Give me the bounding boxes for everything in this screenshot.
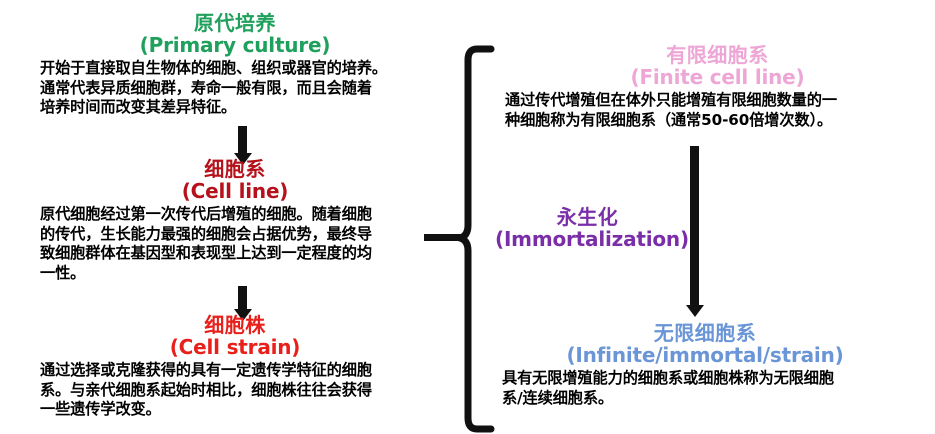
cell-line-body-line4: 一性。 — [40, 264, 430, 284]
primary-culture-body-line1: 开始于直接取自生物体的细胞、组织或器官的培养。 — [40, 59, 430, 79]
cell-line-heading: 细胞系 (Cell line) — [40, 158, 430, 203]
infinite-cell-line-heading-en: (Infinite/immortal/strain) — [480, 344, 930, 366]
cell-strain-heading-en: (Cell strain) — [40, 336, 430, 358]
arrow-finite-to-infinite-icon — [690, 146, 699, 306]
cell-strain-body-line1: 通过选择或克隆获得的具有一定遗传学特征的细胞 — [40, 361, 430, 381]
node-finite-cell-line: 有限细胞系 (Finite cell line) 通过传代增殖但在体外只能增殖有… — [505, 44, 930, 130]
node-cell-strain: 细胞株 (Cell strain) 通过选择或克隆获得的具有一定遗传学特征的细胞… — [40, 314, 430, 420]
infinite-cell-line-body: 具有无限增殖能力的细胞系或细胞株称为无限细胞 系/连续细胞系。 — [480, 369, 930, 409]
immortalization-heading: 永生化 (Immortalization) — [495, 206, 680, 251]
primary-culture-heading-cn: 原代培养 — [40, 12, 430, 34]
primary-culture-body-line2: 通常代表异质细胞群，寿命一般有限，而且会随着 — [40, 79, 430, 99]
node-infinite-cell-line: 无限细胞系 (Infinite/immortal/strain) 具有无限增殖能… — [480, 322, 930, 408]
cell-strain-heading-cn: 细胞株 — [40, 314, 430, 336]
cell-line-heading-en: (Cell line) — [40, 180, 430, 202]
diagram-canvas: 原代培养 (Primary culture) 开始于直接取自生物体的细胞、组织或… — [0, 0, 935, 434]
cell-strain-body: 通过选择或克隆获得的具有一定遗传学特征的细胞 系。与亲代细胞系起始时相比，细胞株… — [40, 361, 430, 420]
primary-culture-body: 开始于直接取自生物体的细胞、组织或器官的培养。 通常代表异质细胞群，寿命一般有限… — [40, 59, 430, 118]
cell-line-body: 原代细胞经过第一次传代后增殖的细胞。随着细胞 的传代，生长能力最强的细胞会占据优… — [40, 205, 430, 284]
cell-line-body-line2: 的传代，生长能力最强的细胞会占据优势，最终导 — [40, 225, 430, 245]
finite-cell-line-body-line2-pre: 种细胞称为有限细胞系（通常 — [505, 111, 701, 129]
cell-strain-heading: 细胞株 (Cell strain) — [40, 314, 430, 359]
cell-line-body-line1: 原代细胞经过第一次传代后增殖的细胞。随着细胞 — [40, 205, 430, 225]
arrow-cellline-to-cellstrain-icon — [238, 286, 247, 310]
node-immortalization: 永生化 (Immortalization) — [495, 206, 680, 251]
infinite-cell-line-heading: 无限细胞系 (Infinite/immortal/strain) — [480, 322, 930, 367]
infinite-cell-line-heading-cn: 无限细胞系 — [480, 322, 930, 344]
cell-line-body-line3: 致细胞群体在基因型和表现型上达到一定程度的均 — [40, 244, 430, 264]
finite-cell-line-heading-en: (Finite cell line) — [505, 66, 930, 88]
infinite-cell-line-body-line2: 系/连续细胞系。 — [502, 389, 908, 409]
cell-line-heading-cn: 细胞系 — [40, 158, 430, 180]
primary-culture-body-line3: 培养时间而改变其差异特征。 — [40, 98, 430, 118]
node-primary-culture: 原代培养 (Primary culture) 开始于直接取自生物体的细胞、组织或… — [40, 12, 430, 118]
immortalization-heading-cn: 永生化 — [495, 206, 680, 228]
finite-cell-line-heading: 有限细胞系 (Finite cell line) — [505, 44, 930, 89]
finite-cell-line-heading-cn: 有限细胞系 — [505, 44, 930, 66]
cell-strain-body-line2: 系。与亲代细胞系起始时相比，细胞株往往会获得 — [40, 381, 430, 401]
primary-culture-heading-en: (Primary culture) — [40, 34, 430, 56]
finite-cell-line-body-line2-post: 倍增次数）。 — [749, 111, 832, 129]
infinite-cell-line-body-line1: 具有无限增殖能力的细胞系或细胞株称为无限细胞 — [502, 369, 908, 389]
immortalization-heading-en: (Immortalization) — [495, 228, 680, 250]
finite-cell-line-body-line1: 通过传代增殖但在体外只能增殖有限细胞数量的一 — [505, 91, 930, 111]
node-cell-line: 细胞系 (Cell line) 原代细胞经过第一次传代后增殖的细胞。随着细胞 的… — [40, 158, 430, 284]
cell-strain-body-line3: 一些遗传学改变。 — [40, 400, 430, 420]
primary-culture-heading: 原代培养 (Primary culture) — [40, 12, 430, 57]
finite-cell-line-body-line2: 种细胞称为有限细胞系（通常50-60倍增次数）。 — [505, 111, 930, 131]
finite-cell-line-body: 通过传代增殖但在体外只能增殖有限细胞数量的一 种细胞称为有限细胞系（通常50-6… — [505, 91, 930, 131]
finite-cell-line-doublings-value: 50-60 — [701, 111, 749, 129]
arrow-primary-to-cellline-icon — [238, 126, 247, 154]
